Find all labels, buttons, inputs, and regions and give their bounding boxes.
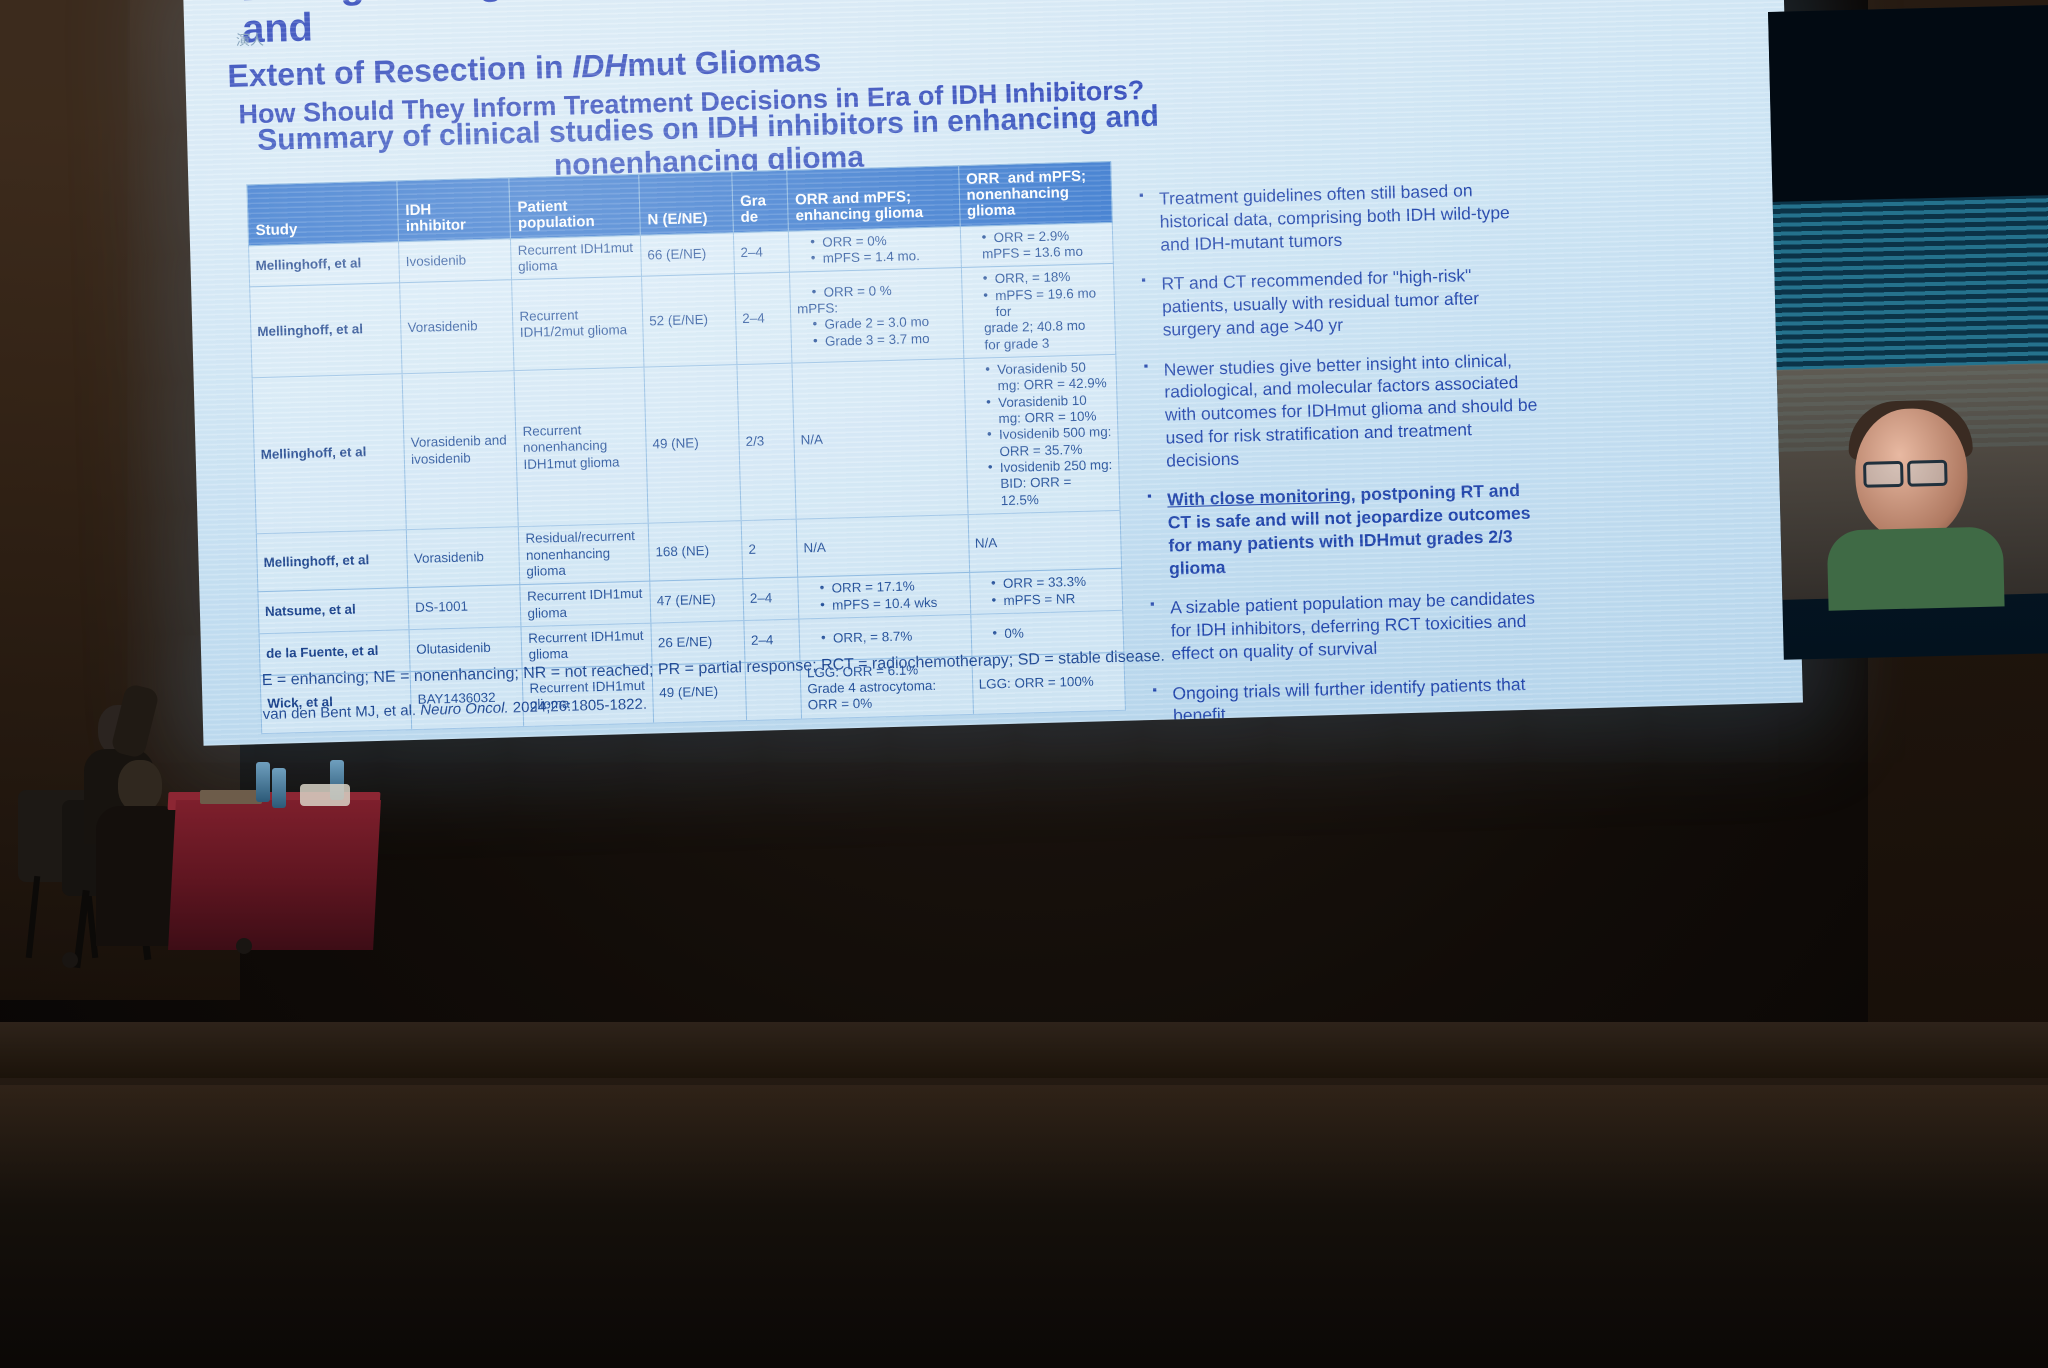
list-item: mPFS = NR <box>991 590 1116 610</box>
cell-population: Recurrent IDH1mut glioma <box>520 581 651 626</box>
enhancing-list: ORR = 17.1% mPFS = 10.4 wks <box>804 577 963 614</box>
cell-grade: 2/3 <box>737 363 796 521</box>
remote-speaker-torso <box>1827 526 2005 610</box>
cell-study: Natsume, et al <box>258 588 409 634</box>
col-study: Study <box>247 181 399 246</box>
cell-n: 66 (E/NE) <box>640 232 734 276</box>
list-item: ORR = 2.9% <box>981 227 1106 247</box>
list-item: mPFS = 10.4 wks <box>820 594 964 614</box>
col-idh-inhibitor: IDHinhibitor <box>397 178 511 242</box>
floor-light-reflection <box>0 1085 2048 1205</box>
water-bottle <box>272 768 286 808</box>
key-point-emphasized: With close monitoring, postponing RT and… <box>1145 479 1547 581</box>
col-grade: Grade <box>732 170 789 232</box>
nonenhancing-list: ORR, = 18% mPFS = 19.6 mo for <box>968 268 1109 321</box>
col-orr-enhancing: ORR and mPFS;enhancing glioma <box>787 166 960 231</box>
cell-grade: 2–4 <box>735 273 792 365</box>
cell-population: Recurrent IDH1/2mut glioma <box>512 277 644 371</box>
eyeglass-right <box>1907 460 1948 487</box>
nonenhancing-list: ORR = 33.3% mPFS = NR <box>976 573 1116 609</box>
clinical-studies-table-wrapper: Study IDHinhibitor Patientpopulation N (… <box>246 161 1126 734</box>
cell-n: 26 E/NE) <box>651 620 745 664</box>
key-point: Ongoing trials will further identify pat… <box>1150 672 1551 728</box>
wall-corner <box>0 0 130 120</box>
nonenhancing-plain: for grade 3 <box>969 334 1109 354</box>
enhancing-list: ORR, = 8.7% <box>806 627 965 648</box>
cell-nonenhancing: ORR = 33.3% mPFS = NR <box>969 569 1123 615</box>
key-point: A sizable patient population may be cand… <box>1148 587 1550 666</box>
col-patient-population: Patientpopulation <box>509 174 640 238</box>
list-item: mPFS = 1.4 mo. <box>811 247 955 267</box>
cell-inhibitor: Vorasidenib <box>407 527 521 588</box>
list-item: mPFS = 19.6 mo for <box>983 285 1108 321</box>
cell-inhibitor: Vorasidenib and ivosidenib <box>402 371 518 530</box>
cell-n: 52 (E/NE) <box>642 274 738 367</box>
drinking-cups <box>300 784 350 806</box>
clinical-studies-table: Study IDHinhibitor Patientpopulation N (… <box>246 161 1126 734</box>
key-point-lead: With close monitoring, <box>1167 485 1356 510</box>
key-point: Newer studies give better insight into c… <box>1141 348 1544 473</box>
cell-inhibitor: Olutasidenib <box>409 626 522 671</box>
nonenhancing-list: 0% <box>977 623 1117 643</box>
table-row: Mellinghoff, et al Vorasidenib and ivosi… <box>252 354 1120 533</box>
cell-nonenhancing: N/A <box>968 511 1122 573</box>
corner-label: 演人 <box>236 30 264 50</box>
cell-grade: 2–4 <box>744 619 800 662</box>
list-item: Ivosidenib 500 mg: ORR = 35.7% <box>987 425 1112 461</box>
cell-nonenhancing: ORR = 2.9% mPFS = 13.6 mo <box>960 222 1114 268</box>
cell-n: 168 (NE) <box>648 521 743 582</box>
enhancing-plain: ORR = 0% <box>808 693 967 714</box>
nonenhancing-list: Vorasidenib 50 mg: ORR = 42.9% Vorasiden… <box>970 359 1113 510</box>
key-point: Treatment guidelines often still based o… <box>1137 177 1539 256</box>
list-item: Vorasidenib 10 mg: ORR = 10% <box>986 392 1111 428</box>
chair-caster <box>62 952 78 968</box>
cell-population: Recurrent nonenhancing IDH1mut glioma <box>514 367 648 527</box>
projection-screen: Biological Significance of Tumor Grade, … <box>183 0 1803 746</box>
cell-study: Mellinghoff, et al <box>250 283 403 378</box>
cell-enhancing: ORR = 0 % mPFS: Grade 2 = 3.0 mo Grade 3… <box>790 268 964 363</box>
col-orr-nonenhancing: ORR and mPFS;nonenhancingglioma <box>958 161 1112 226</box>
side-video-panel <box>1768 5 2048 660</box>
enhancing-sublist: Grade 2 = 3.0 mo Grade 3 = 3.7 mo <box>797 313 956 350</box>
presentation-slide: Biological Significance of Tumor Grade, … <box>183 0 1803 746</box>
chair-caster <box>236 938 252 954</box>
cell-inhibitor: Vorasidenib <box>400 280 515 374</box>
cell-study: Mellinghoff, et al <box>249 241 400 287</box>
cell-enhancing: ORR = 17.1% mPFS = 10.4 wks <box>798 573 971 619</box>
cell-grade: 2 <box>741 519 798 578</box>
col-n: N (E/NE) <box>639 172 734 235</box>
person-head <box>118 760 162 812</box>
cell-enhancing: N/A <box>796 515 969 578</box>
enhancing-list: ORR = 0% mPFS = 1.4 mo. <box>795 231 954 268</box>
list-item: ORR, = 8.7% <box>821 627 965 647</box>
eyeglass-left <box>1863 461 1904 488</box>
cell-grade: 2–4 <box>743 577 799 620</box>
cell-population: Recurrent IDH1mut glioma <box>511 235 642 280</box>
cell-inhibitor: DS-1001 <box>408 585 521 630</box>
key-points-list: Treatment guidelines often still based o… <box>1137 177 1552 745</box>
stage-front-edge <box>0 1022 2048 1082</box>
panel-table-skirt <box>168 800 381 950</box>
cell-n: 49 (NE) <box>644 365 741 524</box>
cell-study: Mellinghoff, et al <box>252 374 406 534</box>
cell-grade: 2–4 <box>733 231 789 274</box>
side-panel-dark-top <box>1768 5 2048 202</box>
citation-journal: Neuro Oncol. <box>420 699 509 718</box>
cell-enhancing: ORR = 0% mPFS = 1.4 mo. <box>788 226 961 272</box>
list-item: Vorasidenib 50 mg: ORR = 42.9% <box>985 359 1110 395</box>
list-item: Ivosidenib 250 mg: BID: ORR = 12.5% <box>988 457 1114 509</box>
list-item: 0% <box>992 623 1117 643</box>
cell-nonenhancing: Vorasidenib 50 mg: ORR = 42.9% Vorasiden… <box>963 354 1120 514</box>
cell-inhibitor: Ivosidenib <box>399 238 512 283</box>
water-bottle <box>256 762 270 802</box>
cell-population: Residual/recurrent nonenhancing glioma <box>519 523 650 585</box>
cell-enhancing: N/A <box>792 359 968 520</box>
list-item: Grade 3 = 3.7 mo <box>813 330 957 350</box>
documents-on-table <box>200 790 262 804</box>
cell-study: Mellinghoff, et al <box>256 530 408 592</box>
key-point: RT and CT recommended for "high-risk" pa… <box>1139 263 1541 342</box>
cell-n: 47 (E/NE) <box>650 579 744 623</box>
auditorium-room: Biological Significance of Tumor Grade, … <box>0 0 2048 1365</box>
cell-nonenhancing: ORR, = 18% mPFS = 19.6 mo for grade 2; 4… <box>961 264 1116 359</box>
